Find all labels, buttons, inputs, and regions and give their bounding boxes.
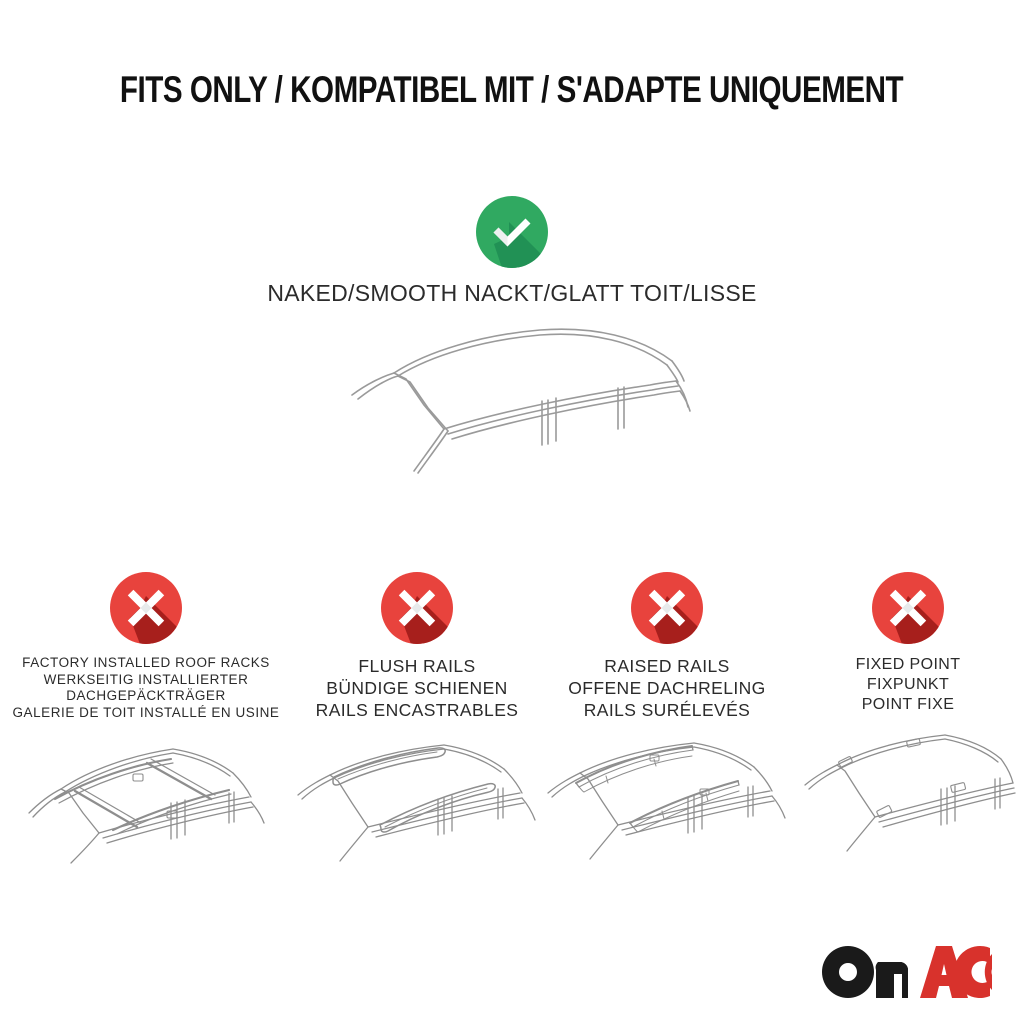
item-caption: FIXED POINT FIXPUNKT POINT FIXE [792, 655, 1024, 715]
caption-line-2: OFFENE DACHRELING [542, 677, 792, 699]
x-circle-icon [872, 572, 944, 644]
x-mark-glyph [872, 572, 944, 644]
caption-line-1: FACTORY INSTALLED ROOF RACKS [0, 655, 292, 672]
roof-line-art [21, 735, 271, 865]
caption-line-4: GALERIE DE TOIT INSTALLÉ EN USINE [0, 705, 292, 722]
compatible-caption: NAKED/SMOOTH NACKT/GLATT TOIT/LISSE [262, 280, 762, 307]
caption-line-1: FIXED POINT [792, 655, 1024, 675]
incompatible-item-factory-roof-racks: FACTORY INSTALLED ROOF RACKS WERKSEITIG … [0, 572, 292, 865]
roof-line-art [292, 735, 542, 865]
x-mark-glyph [381, 572, 453, 644]
roof-line-art [332, 321, 692, 481]
x-mark-glyph [110, 572, 182, 644]
x-circle-icon [631, 572, 703, 644]
compatible-section: NAKED/SMOOTH NACKT/GLATT TOIT/LISSE [262, 196, 762, 481]
logo-letter-o [822, 946, 874, 998]
roof-with-factory-crossbars-illustration [0, 735, 292, 865]
incompatible-item-flush-rails: FLUSH RAILS BÜNDIGE SCHIENEN RAILS ENCAS… [292, 572, 542, 865]
header: FITS ONLY / KOMPATIBEL MIT / S'ADAPTE UN… [0, 68, 1024, 112]
caption-line-3: RAILS ENCASTRABLES [292, 699, 542, 721]
caption-line-2: BÜNDIGE SCHIENEN [292, 677, 542, 699]
check-mark-glyph [476, 196, 548, 268]
roof-with-raised-rails-illustration [542, 735, 792, 865]
smooth-bare-roof-illustration [262, 321, 762, 481]
item-caption: RAISED RAILS OFFENE DACHRELING RAILS SUR… [542, 655, 792, 721]
caption-line-3: POINT FIXE [792, 695, 1024, 715]
compatible-line-2: NACKT/GLATT [464, 280, 624, 306]
caption-line-3: RAILS SURÉLEVÉS [542, 699, 792, 721]
incompatible-item-fixed-point: FIXED POINT FIXPUNKT POINT FIXE [792, 572, 1024, 859]
compatible-line-1: NAKED/SMOOTH [267, 280, 457, 306]
item-caption: FLUSH RAILS BÜNDIGE SCHIENEN RAILS ENCAS… [292, 655, 542, 721]
caption-line-1: RAISED RAILS [542, 655, 792, 677]
roof-line-art [801, 729, 1016, 859]
page-title: FITS ONLY / KOMPATIBEL MIT / S'ADAPTE UN… [120, 68, 903, 112]
roof-with-fixed-points-illustration [792, 729, 1024, 859]
item-caption: FACTORY INSTALLED ROOF RACKS WERKSEITIG … [0, 655, 292, 721]
incompatible-item-raised-rails: RAISED RAILS OFFENE DACHRELING RAILS SUR… [542, 572, 792, 865]
incompatible-section: FACTORY INSTALLED ROOF RACKS WERKSEITIG … [0, 572, 1024, 865]
check-circle-icon [476, 196, 548, 268]
x-circle-icon [381, 572, 453, 644]
logo-letter-m-notch [894, 974, 902, 998]
omac-logo-mark [820, 944, 992, 1002]
caption-line-3: DACHGEPÄCKTRÄGER [0, 688, 292, 705]
caption-line-2: WERKSEITIG INSTALLIERTER [0, 672, 292, 689]
roof-with-flush-rails-illustration [292, 735, 542, 865]
compatible-line-3: TOIT/LISSE [630, 280, 757, 306]
caption-line-1: FLUSH RAILS [292, 655, 542, 677]
caption-line-2: FIXPUNKT [792, 675, 1024, 695]
logo-letter-m-stem [878, 962, 894, 998]
omac-logo [820, 944, 992, 1002]
x-mark-glyph [631, 572, 703, 644]
x-circle-icon [110, 572, 182, 644]
roof-line-art [542, 735, 792, 865]
